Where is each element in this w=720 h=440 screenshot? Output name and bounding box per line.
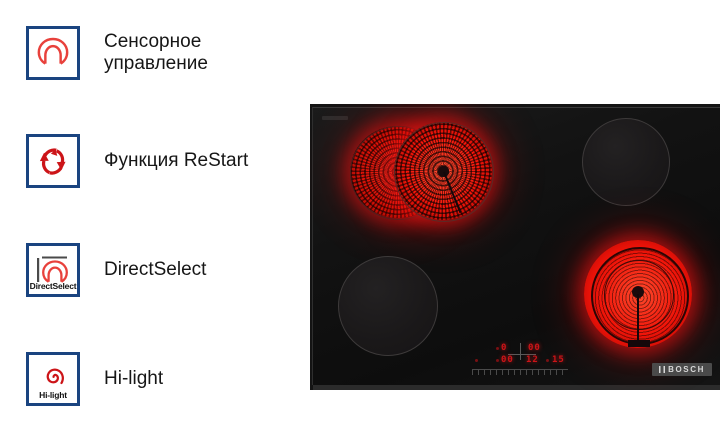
led-row2-cell2: 12 <box>526 356 539 365</box>
bosch-logo: BOSCH <box>652 363 712 376</box>
zone-front-right-hi-light <box>584 240 692 348</box>
led-row2-cell3: 15 <box>552 356 565 365</box>
feature-item-direct-select[interactable]: DirectSelect DirectSelect <box>26 243 206 297</box>
touch-slider[interactable] <box>472 369 568 375</box>
feature-item-hi-light[interactable]: Hi-light Hi-light <box>26 352 163 406</box>
cooktop-product-image: 0 00 00 12 15 BOSCH <box>310 104 720 390</box>
zone-front-left-dual <box>350 122 492 220</box>
control-panel[interactable]: 0 00 00 12 15 <box>470 344 574 376</box>
feature-item-restart[interactable]: Функция ReStart <box>26 134 248 188</box>
hi-light-spiral-icon <box>33 359 73 393</box>
hi-light-icon-box: Hi-light <box>26 352 80 406</box>
zone-rear-right-off <box>582 118 670 206</box>
touch-control-icon-box <box>26 26 80 80</box>
direct-select-icon-box: DirectSelect <box>26 243 80 297</box>
led-row1-cell1: 0 <box>501 344 507 353</box>
feature-list: Сенсорное управление Функция ReStart <box>0 0 310 440</box>
feature-label: DirectSelect <box>104 259 206 281</box>
led-row2-cell1: 00 <box>501 356 514 365</box>
bosch-mark-icon <box>659 366 665 373</box>
bosch-wordmark: BOSCH <box>668 365 705 374</box>
top-brand-mark <box>322 116 348 120</box>
direct-select-caption: DirectSelect <box>29 282 77 291</box>
hi-light-caption: Hi-light <box>29 391 77 400</box>
feature-label: Сенсорное управление <box>104 31 208 76</box>
led-row1-cell2: 00 <box>528 344 541 353</box>
restart-arrows-icon <box>33 144 73 178</box>
touch-control-icon <box>33 36 73 70</box>
zone-front-left-off <box>338 256 438 356</box>
restart-icon-box <box>26 134 80 188</box>
feature-label: Функция ReStart <box>104 150 248 172</box>
feature-label: Hi-light <box>104 368 163 390</box>
feature-item-touch-control[interactable]: Сенсорное управление <box>26 26 208 80</box>
